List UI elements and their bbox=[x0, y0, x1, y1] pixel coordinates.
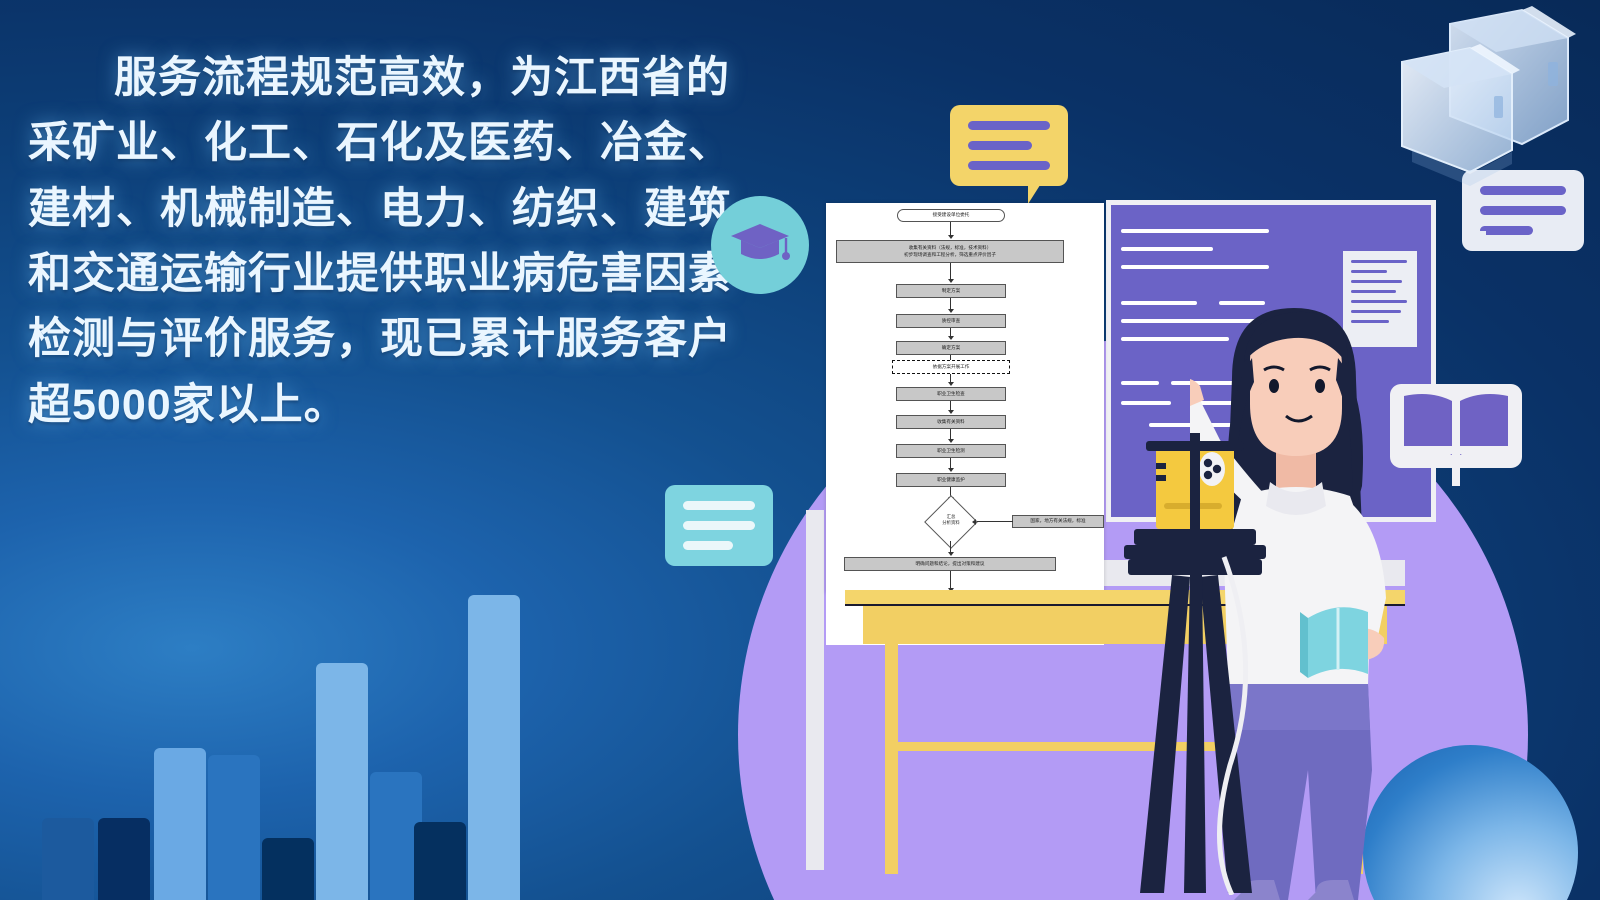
page-title: 服务流程规范高效，为江西省的采矿业、化工、石化及医药、冶金、建材、机械制造、电力… bbox=[28, 46, 768, 438]
flow-side-node-s1: 国家，地方有关法规，标准 bbox=[1012, 515, 1104, 528]
board-text-line bbox=[1121, 229, 1269, 233]
flow-arrow bbox=[977, 521, 1013, 522]
flow-arrow-head bbox=[948, 552, 954, 556]
projector-tripod bbox=[1112, 425, 1282, 895]
bubble-line bbox=[683, 541, 733, 550]
flow-node-n2: 收集有关资料（法规，标准，技术资料） 初步现场调查和工程分析，筛选重点评价因子 bbox=[836, 240, 1064, 263]
background-bar-chart bbox=[0, 420, 700, 900]
board-text-line bbox=[1121, 247, 1213, 251]
flow-arrow-head bbox=[948, 468, 954, 472]
bubble-line bbox=[968, 121, 1050, 130]
flow-arrow-head bbox=[948, 309, 954, 313]
flow-arrow-head bbox=[948, 382, 954, 386]
flowchart: 接受建设单位委托 收集有关资料（法规，标准，技术资料） 初步现场调查和工程分析，… bbox=[826, 203, 1104, 593]
board-text-line bbox=[1121, 381, 1159, 385]
bubble-line bbox=[1480, 206, 1566, 215]
flow-arrow-head bbox=[948, 336, 954, 340]
flow-arrow-head bbox=[948, 235, 954, 239]
flow-node-n4: 质控审查 bbox=[896, 314, 1006, 328]
bubble-line bbox=[1480, 226, 1533, 235]
desk-leg-left bbox=[885, 644, 898, 874]
flow-arrow-head bbox=[948, 439, 954, 443]
flow-node-n7: 职业卫生检查 bbox=[896, 387, 1006, 401]
poster-canvas: 服务流程规范高效，为江西省的采矿业、化工、石化及医药、冶金、建材、机械制造、电力… bbox=[0, 0, 1600, 900]
bubble-tail bbox=[1474, 231, 1486, 251]
bar-6 bbox=[316, 663, 368, 900]
flow-node-n1: 接受建设单位委托 bbox=[897, 209, 1005, 222]
bubble-line bbox=[683, 501, 755, 510]
graduation-badge bbox=[711, 196, 809, 294]
bar-3 bbox=[154, 748, 206, 900]
graduation-cap-icon bbox=[729, 221, 791, 269]
bubble-line bbox=[968, 141, 1032, 150]
doc-line bbox=[1351, 270, 1387, 273]
flow-arrow-head bbox=[948, 279, 954, 283]
bar-1 bbox=[42, 818, 94, 900]
wall-strip bbox=[806, 510, 824, 870]
flow-node-n10: 职业健康监护 bbox=[896, 473, 1006, 487]
cyan-note-bubble bbox=[665, 485, 773, 566]
flow-node-n5: 确定方案 bbox=[896, 341, 1006, 355]
doc-line bbox=[1351, 290, 1396, 293]
yellow-speech-bubble bbox=[950, 105, 1068, 186]
doc-line bbox=[1351, 260, 1407, 263]
bubble-tail bbox=[1028, 182, 1042, 204]
flow-arrow bbox=[950, 571, 951, 589]
bar-9 bbox=[468, 595, 520, 900]
bar-8 bbox=[414, 822, 466, 900]
bar-5 bbox=[262, 838, 314, 900]
bar-2 bbox=[98, 818, 150, 900]
flow-node-n9: 职业卫生检测 bbox=[896, 444, 1006, 458]
flow-arrow-head bbox=[972, 519, 976, 525]
flow-node-n6: 依据方案开展工作 bbox=[892, 360, 1010, 374]
flow-node-n8: 收集有关资料 bbox=[896, 415, 1006, 429]
flow-arrow bbox=[950, 222, 951, 236]
bubble-line bbox=[683, 521, 755, 530]
board-text-line bbox=[1121, 301, 1197, 305]
board-text-line bbox=[1121, 265, 1269, 269]
flow-node-n3: 制定方案 bbox=[896, 284, 1006, 298]
flow-node-n11: 汇总 分析资料 bbox=[930, 514, 972, 525]
bar-4 bbox=[208, 755, 260, 900]
flow-arrow bbox=[950, 263, 951, 280]
glass-books-icon bbox=[1372, 4, 1584, 194]
doc-line bbox=[1351, 280, 1402, 283]
bubble-line bbox=[968, 161, 1050, 170]
process-flowchart-panel: 接受建设单位委托 收集有关资料（法规，标准，技术资料） 初步现场调查和工程分析，… bbox=[826, 203, 1104, 593]
flow-arrow-head bbox=[948, 410, 954, 414]
board-text-line bbox=[1121, 401, 1171, 405]
flow-node-n12: 明确问题和结论，提出对策和建议 bbox=[844, 557, 1056, 571]
